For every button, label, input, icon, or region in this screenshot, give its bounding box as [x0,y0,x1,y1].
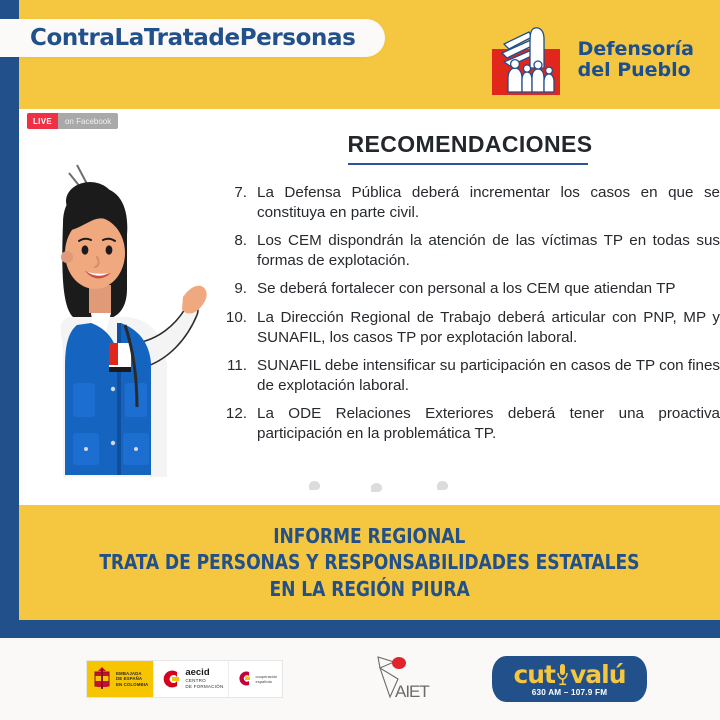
hand-people-icon [489,22,567,98]
item-text: Se deberá fortalecer con personal a los … [257,280,675,297]
item-number: 11. [215,356,247,376]
banner-line-1: INFORME REGIONAL [273,523,465,549]
logo-line-2: del Pueblo [578,60,694,81]
defensoria-logo: Defensoría del Pueblo [489,22,694,98]
item-number: 10. [215,308,247,328]
cutivalu-logo: cut valú 630 AM – 107.9 FM [492,656,647,702]
item-number: 9. [215,279,247,299]
cooperacion-line-2: española [255,679,277,684]
cutivalu-frequency: 630 AM – 107.9 FM [532,688,607,697]
logo-line-1: Defensoría [578,39,694,60]
item-text: Los CEM dispondrán la atención de las ví… [257,232,720,269]
banner-line-3: EN LA REGIÓN PIURA [269,576,469,602]
cooperacion-espanola-logo: cooperación española [228,661,282,697]
aecid-c-icon [159,668,181,690]
item-text: La ODE Relaciones Exteriores deberá tene… [257,405,720,442]
list-item: 10. La Dirección Regional de Trabajo deb… [215,308,720,347]
embajada-line-3: EN COLOMBIA [116,682,148,688]
aecid-logo: aecid CENTRO DE FORMACIÓN [153,661,228,697]
live-label: LIVE [27,113,58,129]
social-post-card: ContraLaTratadePersonas [0,0,720,720]
live-badge: LIVE on Facebook [27,113,118,129]
list-item: 12. La ODE Relaciones Exteriores deberá … [215,404,720,443]
aieti-mark-icon: AIETI [368,653,430,701]
hashtag-title-pill: ContraLaTratadePersonas [0,19,385,57]
aecid-name: aecid [185,668,223,678]
banner-bottom-bar [0,620,720,638]
item-text: SUNAFIL debe intensificar su participaci… [257,357,720,394]
spain-coat-of-arms-icon [92,666,112,692]
item-number: 8. [215,231,247,251]
presentation-slide: RECOMENDACIONES 7. La Defensa Pública de… [215,131,720,453]
cooperacion-c-icon [234,669,252,689]
list-item: 8. Los CEM dispondrán la atención de las… [215,231,720,270]
page-title: ContraLaTratadePersonas [30,25,355,51]
microphone-icon [556,662,569,687]
aecid-line-2: DE FORMACIÓN [185,684,223,690]
recommendations-list: 7. La Defensa Pública deberá incrementar… [215,183,720,444]
report-title-banner: INFORME REGIONAL TRATA DE PERSONAS Y RES… [0,505,720,620]
item-number: 12. [215,404,247,424]
banner-line-2: TRATA DE PERSONAS Y RESPONSABILIDADES ES… [99,549,639,575]
slide-heading: RECOMENDACIONES [348,131,588,165]
presenter-illustration [33,157,213,497]
livestream-screenshot: LIVE on Facebook [19,109,720,505]
item-text: La Dirección Regional de Trabajo deberá … [257,309,720,346]
item-text: La Defensa Pública deberá incrementar lo… [257,184,720,221]
aieti-wordmark: AIETI [395,682,430,701]
embajada-espana-logo: EMBAJADA DE ESPAÑA EN COLOMBIA [87,661,153,697]
item-number: 7. [215,183,247,203]
spain-cooperation-logos: EMBAJADA DE ESPAÑA EN COLOMBIA aecid CEN… [86,660,283,698]
left-blue-spine [0,0,19,638]
cutivalu-wordmark: cut valú [513,662,625,687]
list-item: 11. SUNAFIL debe intensificar su partici… [215,356,720,395]
list-item: 7. La Defensa Pública deberá incrementar… [215,183,720,222]
embajada-caption: EMBAJADA DE ESPAÑA EN COLOMBIA [116,671,148,688]
cutivalu-name-a: cut [513,662,555,687]
aieti-logo: AIETI [368,653,430,706]
list-item: 9. Se deberá fortalecer con personal a l… [215,279,720,299]
defensoria-emblem-icon [489,22,567,98]
footer-logos: EMBAJADA DE ESPAÑA EN COLOMBIA aecid CEN… [0,638,720,720]
defensoria-wordmark: Defensoría del Pueblo [578,39,694,82]
reaction-bubbles [309,481,489,505]
cutivalu-name-b: valú [570,662,626,687]
platform-label: on Facebook [58,113,118,129]
header-bar: ContraLaTratadePersonas [0,0,720,109]
